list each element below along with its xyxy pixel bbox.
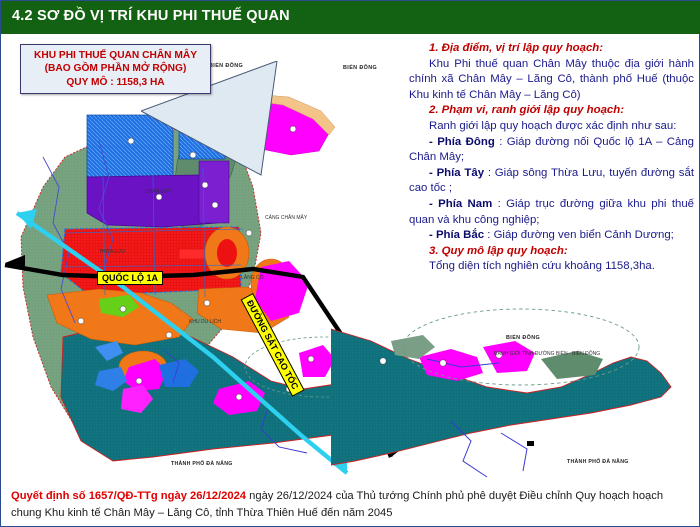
callout-line-2: (BAO GỒM PHẦN MỞ RỘNG) bbox=[21, 62, 210, 76]
panel-section-1-title: 1. Địa điểm, vị trí lập quy hoạch: bbox=[409, 41, 694, 57]
map-label-highway-ql1a: QUỐC LỘ 1A bbox=[97, 271, 163, 285]
map-label-sea-east: BIỂN ĐÔNG bbox=[506, 335, 540, 341]
panel-direction-east: - Phía Đông : Giáp đường nối Quốc lộ 1A … bbox=[409, 135, 694, 166]
page-title: 4.2 SƠ ĐỒ VỊ TRÍ KHU PHI THUẾ QUAN bbox=[12, 8, 290, 24]
panel-section-2-title: 2. Phạm vi, ranh giới lập quy hoạch: bbox=[409, 103, 694, 119]
map-eastern-tail bbox=[331, 301, 697, 491]
callout-line-1: KHU PHI THUẾ QUAN CHÂN MÂY bbox=[21, 49, 210, 63]
callout-box-tax-free-zone: KHU PHI THUẾ QUAN CHÂN MÂY (BAO GỒM PHẦN… bbox=[20, 44, 211, 94]
map-label-place-lang-co: LĂNG CÔ bbox=[241, 275, 264, 281]
footer-note: Quyết định số 1657/QĐ-TTg ngày 26/12/202… bbox=[11, 488, 691, 522]
panel-section-2-intro: Ranh giới lập quy hoạch được xác định nh… bbox=[409, 119, 694, 135]
map-spot-magenta-3 bbox=[299, 345, 335, 377]
map-zone-red-detail bbox=[179, 249, 205, 259]
map-region-purple-industrial bbox=[87, 175, 217, 227]
map-label-place-thua-luu: THỪA LƯU bbox=[99, 249, 125, 255]
panel-direction-west: - Phía Tây : Giáp sông Thừa Lưu, tuyến đ… bbox=[409, 166, 694, 197]
panel-direction-north-text: : Giáp đường ven biển Cảnh Dương; bbox=[484, 229, 674, 241]
map-label-sea-ne: BIỂN ĐÔNG bbox=[343, 65, 377, 71]
panel-direction-south-label: - Phía Nam bbox=[429, 198, 492, 210]
footer-decision-number: Quyết định số 1657/QĐ-TTg ngày 26/12/202… bbox=[11, 490, 246, 502]
panel-direction-west-label: - Phía Tây bbox=[429, 167, 484, 179]
footer-paragraph: Quyết định số 1657/QĐ-TTg ngày 26/12/202… bbox=[11, 488, 691, 522]
map-label-sea-note: RANH GIỚI TỈNH ĐƯỜNG BIỂN - BIỂN ĐÔNG bbox=[494, 351, 600, 357]
map-region-orange-core bbox=[217, 239, 237, 267]
panel-section-3-body: Tổng diện tích nghiên cứu khoảng 1158,3h… bbox=[409, 259, 694, 275]
map-label-place-chan-may: CHÂN MÂY bbox=[145, 189, 171, 195]
panel-direction-east-label: - Phía Đông bbox=[429, 136, 495, 148]
map-label-place-du-lich: KHU DU LỊCH bbox=[189, 319, 221, 325]
slide-header-bar: 4.2 SƠ ĐỒ VỊ TRÍ KHU PHI THUẾ QUAN bbox=[1, 1, 700, 34]
panel-section-3-title: 3. Quy mô lập quy hoạch: bbox=[409, 244, 694, 260]
panel-direction-north: - Phía Bắc : Giáp đường ven biển Cảnh Dư… bbox=[409, 228, 694, 244]
map-label-place-cang: CẢNG CHÂN MÂY bbox=[265, 215, 307, 221]
slide-root: 4.2 SƠ ĐỒ VỊ TRÍ KHU PHI THUẾ QUAN bbox=[0, 0, 700, 527]
info-panel: 1. Địa điểm, vị trí lập quy hoạch: Khu P… bbox=[409, 41, 694, 275]
callout-line-3: QUY MÔ : 1158,3 HA bbox=[21, 76, 210, 90]
map-label-city-danang-right: THÀNH PHỐ ĐÀ NẴNG bbox=[567, 459, 629, 465]
map-label-city-danang-left: THÀNH PHỐ ĐÀ NẴNG bbox=[171, 461, 233, 467]
panel-section-1-body: Khu Phi thuế quan Chân Mây thuộc địa giớ… bbox=[409, 57, 694, 104]
panel-direction-south: - Phía Nam : Giáp trục đường giữa khu ph… bbox=[409, 197, 694, 228]
panel-direction-north-label: - Phía Bắc bbox=[429, 229, 484, 241]
